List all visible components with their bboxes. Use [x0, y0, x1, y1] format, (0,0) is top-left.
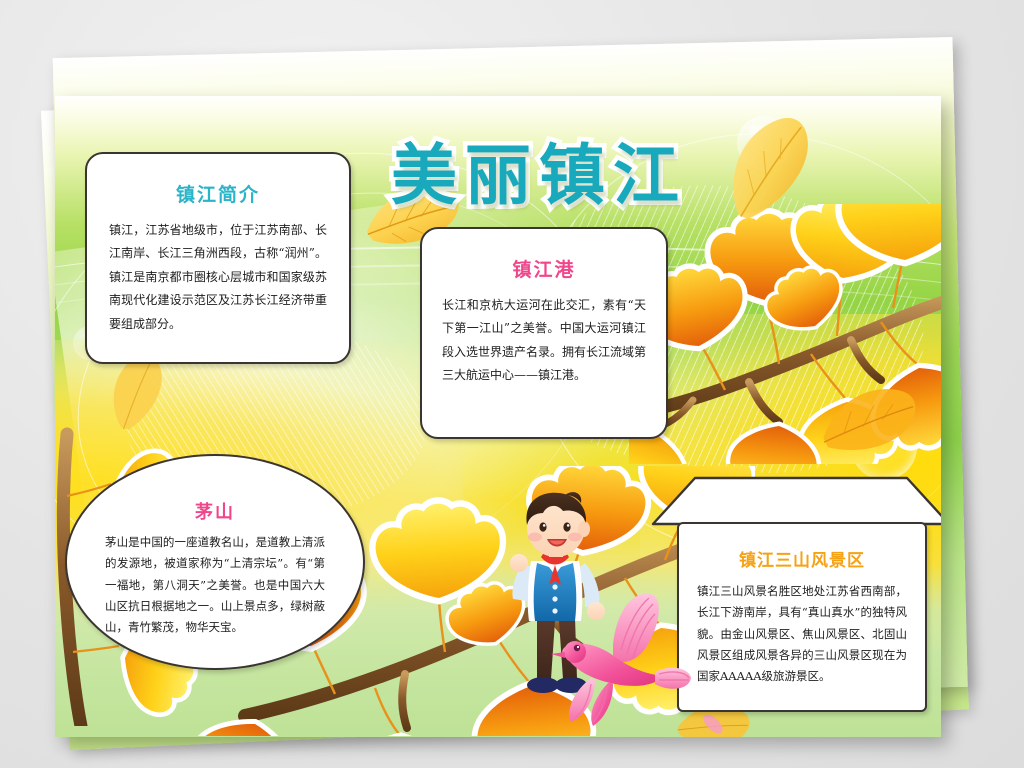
box-lid [651, 474, 941, 526]
card-body: 茅山是中国的一座道教名山，是道教上清派的发源地，被道家称为“上清宗坛”。有“第一… [105, 532, 325, 638]
text-card-sanshan-wrapper: 镇江三山风景区 镇江三山风景名胜区地处江苏省西南部，长江下游南岸，具有“真山真水… [651, 474, 941, 714]
poster-front-sheet: 美丽镇江 镇江简介 镇江，江苏省地级市，位于江苏南部、长江南岸、长江三角洲西段，… [55, 96, 941, 737]
text-card-zhenjiang-intro: 镇江简介 镇江，江苏省地级市，位于江苏南部、长江南岸、长江三角洲西段，古称“润州… [85, 152, 351, 364]
card-body: 长江和京杭大运河在此交汇，素有“天下第一江山”之美誉。中国大运河镇江段入选世界遗… [442, 294, 646, 388]
text-card-sanshan: 镇江三山风景区 镇江三山风景名胜区地处江苏省西南部，长江下游南岸，具有“真山真水… [677, 522, 927, 712]
text-card-maoshan: 茅山 茅山是中国的一座道教名山，是道教上清派的发源地，被道家称为“上清宗坛”。有… [65, 454, 365, 670]
card-body: 镇江，江苏省地级市，位于江苏南部、长江南岸、长江三角洲西段，古称“润州”。镇江是… [109, 219, 327, 336]
poster-stage: 美丽镇江 镇江简介 镇江，江苏省地级市，位于江苏南部、长江南岸、长江三角洲西段，… [0, 0, 1024, 768]
pink-bird [551, 588, 691, 728]
text-card-zhenjiang-port: 镇江港 长江和京杭大运河在此交汇，素有“天下第一江山”之美誉。中国大运河镇江段入… [420, 227, 668, 439]
card-heading: 镇江三山风景区 [697, 546, 907, 571]
card-heading: 镇江简介 [109, 180, 327, 207]
card-body: 镇江三山风景名胜区地处江苏省西南部，长江下游南岸，具有“真山真水”的独特风貌。由… [697, 581, 907, 687]
card-heading: 茅山 [105, 498, 325, 524]
page-title: 美丽镇江 [391, 122, 687, 218]
card-heading: 镇江港 [442, 255, 646, 282]
